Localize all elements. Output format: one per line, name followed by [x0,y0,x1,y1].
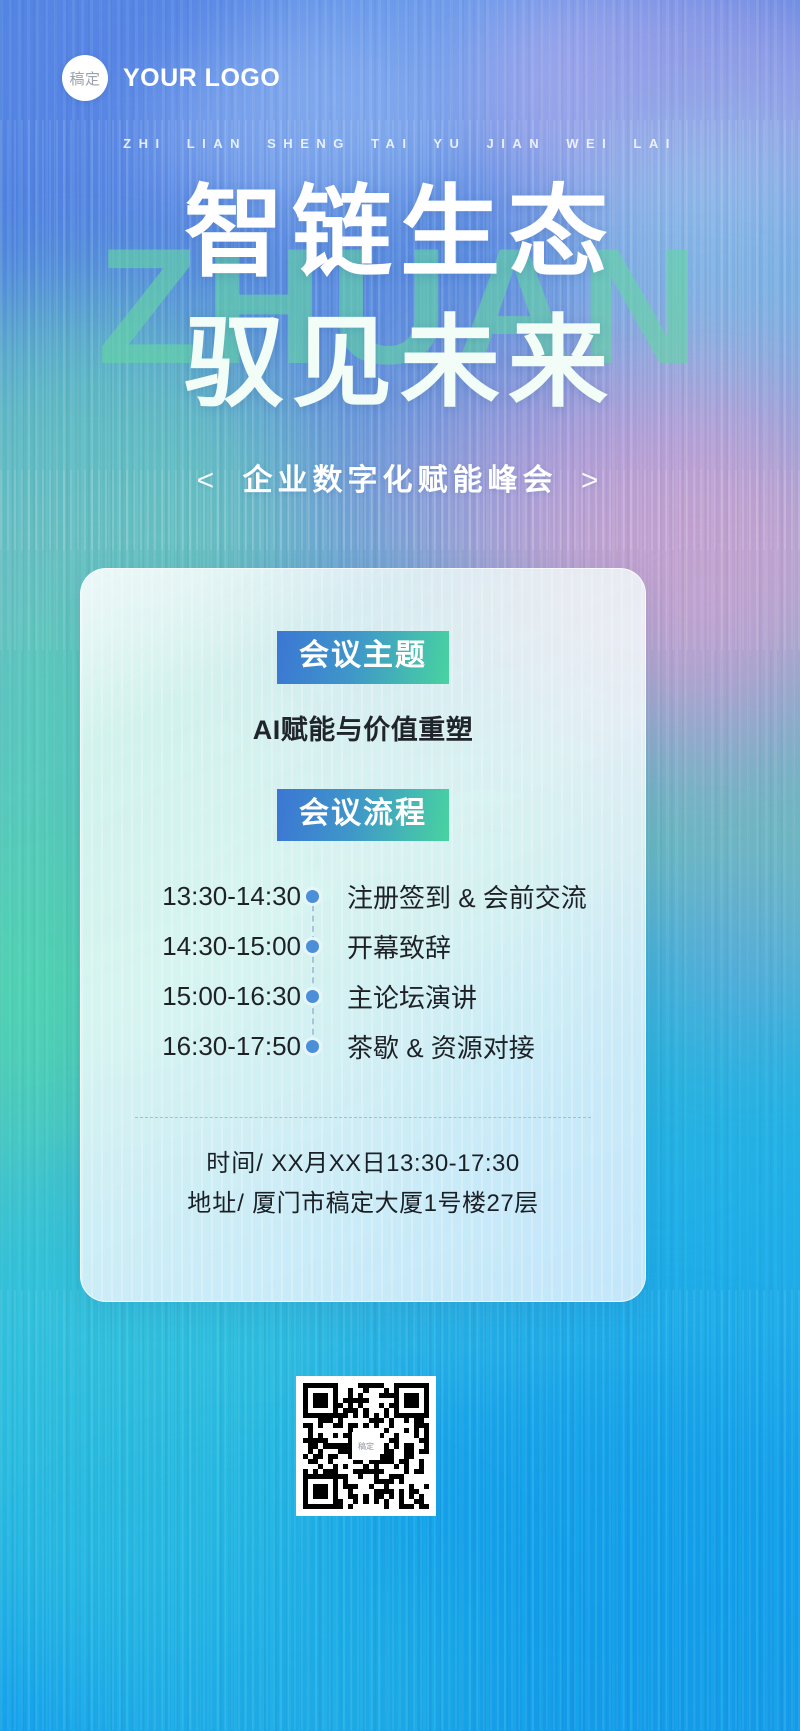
agenda-dot-cell [301,1040,323,1053]
bracket-left-icon: < [187,464,230,497]
event-meta-label: 地址/ [187,1190,245,1217]
bracket-right-icon: > [571,464,614,497]
qr-module [333,1454,338,1459]
qr-module [419,1469,424,1474]
qr-module [348,1504,353,1509]
agenda-row: 13:30-14:30注册签到 & 会前交流 [123,871,603,921]
qr-grid: 稿定 [303,1383,429,1509]
qr-module [424,1413,429,1418]
event-meta: 时间/ XX月XX日13:30-17:30地址/ 厦门市稿定大厦1号楼27层 [119,1144,607,1224]
hero-subtitle-text: 企业数字化赋能峰会 [243,464,558,497]
qr-module [404,1469,409,1474]
qr-module [379,1418,384,1423]
qr-module [353,1423,358,1428]
qr-module [333,1433,338,1438]
qr-module [399,1479,404,1484]
qr-module [363,1398,368,1403]
qr-module [409,1454,414,1459]
qr-module [424,1484,429,1489]
agenda-dot-icon [306,990,319,1003]
poster-root: 稿定 YOUR LOGO ZHI LIAN SHENG TAI YU JIAN … [0,0,800,1731]
agenda-time: 16:30-17:50 [123,1031,301,1062]
agenda-dot-icon [306,890,319,903]
agenda-badge: 会议流程 [277,789,449,842]
agenda-time: 14:30-15:00 [123,931,301,962]
qr-module [404,1418,409,1423]
agenda-list: 13:30-14:30注册签到 & 会前交流14:30-15:00开幕致辞15:… [123,871,603,1071]
agenda-dot-icon [306,1040,319,1053]
theme-badge: 会议主题 [277,631,449,684]
qr-module [409,1504,414,1509]
qr-module [353,1484,358,1489]
agenda-dot-icon [306,940,319,953]
brand-logo[interactable]: 稿定 YOUR LOGO [62,55,280,101]
hero-title: 智链生态 驭见未来 [0,168,800,428]
qr-module [379,1469,384,1474]
qr-module [414,1403,419,1408]
theme-text: AI赋能与价值重塑 [119,708,607,747]
qr-module [424,1449,429,1454]
qr-module [358,1474,363,1479]
pinyin-subtitle: ZHI LIAN SHENG TAI YU JIAN WEI LAI [0,136,800,151]
qr-module [353,1499,358,1504]
agenda-row: 16:30-17:50茶歇 & 资源对接 [123,1021,603,1071]
qr-module [353,1413,358,1418]
agenda-row: 15:00-16:30主论坛演讲 [123,971,603,1021]
info-card: 会议主题 AI赋能与价值重塑 会议流程 13:30-14:30注册签到 & 会前… [80,568,646,1302]
qr-module [343,1464,348,1469]
qr-module [338,1423,343,1428]
card-divider [135,1117,591,1118]
title-line-1: 智链生态 [0,168,800,298]
agenda-title: 茶歇 & 资源对接 [323,1028,603,1065]
qr-module [384,1428,389,1433]
qr-module [424,1504,429,1509]
qr-module [363,1423,368,1428]
qr-module [374,1499,379,1504]
qr-code[interactable]: 稿定 [296,1376,436,1516]
qr-module [318,1454,323,1459]
qr-module [389,1494,394,1499]
event-meta-value: XX月XX日13:30-17:30 [264,1150,520,1177]
event-meta-line: 时间/ XX月XX日13:30-17:30 [119,1144,607,1184]
qr-module [338,1504,343,1509]
qr-module [323,1494,328,1499]
title-line-2: 驭见未来 [0,298,800,428]
qr-module [363,1499,368,1504]
qr-module [404,1428,409,1433]
qr-center-label: 稿定 [352,1432,380,1460]
qr-module [323,1403,328,1408]
qr-module [394,1464,399,1469]
agenda-title: 主论坛演讲 [323,978,603,1015]
agenda-time: 13:30-14:30 [123,881,301,912]
qr-module [318,1423,323,1428]
agenda-dot-cell [301,890,323,903]
agenda-time: 15:00-16:30 [123,981,301,1012]
qr-module [384,1504,389,1509]
agenda-row: 14:30-15:00开幕致辞 [123,921,603,971]
logo-text: YOUR LOGO [123,64,280,93]
qr-module [363,1388,368,1393]
agenda-dot-cell [301,990,323,1003]
event-meta-line: 地址/ 厦门市稿定大厦1号楼27层 [119,1184,607,1224]
hero-subtitle: < 企业数字化赋能峰会 > [0,455,800,499]
qr-module [374,1423,379,1428]
agenda-dot-cell [301,940,323,953]
agenda-title: 开幕致辞 [323,928,603,965]
logo-mark-icon: 稿定 [62,55,108,101]
event-meta-label: 时间/ [206,1150,264,1177]
qr-module [389,1423,394,1428]
qr-module [394,1443,399,1448]
agenda-title: 注册签到 & 会前交流 [323,878,603,915]
event-meta-value: 厦门市稿定大厦1号楼27层 [245,1190,539,1217]
qr-module [389,1479,394,1484]
qr-module [343,1413,348,1418]
